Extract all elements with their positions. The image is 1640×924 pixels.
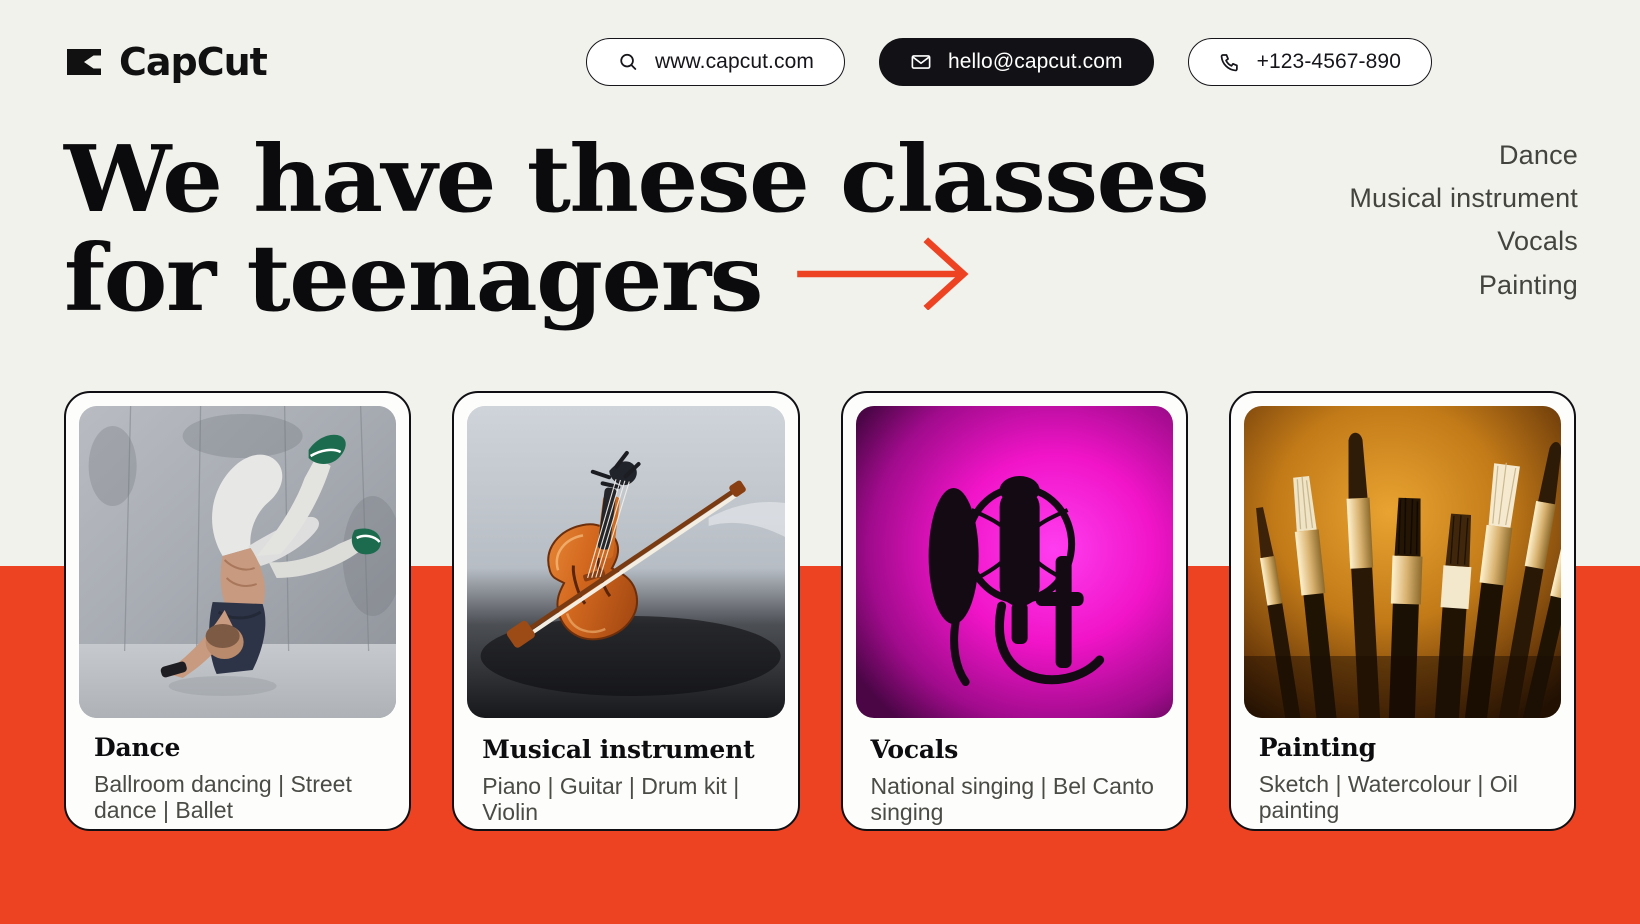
class-card-grid: Dance Ballroom dancing | Street dance | … [64, 391, 1576, 831]
brand-logo[interactable]: CapCut [62, 40, 267, 84]
poster-canvas: CapCut www.capcut.com hello@cap [0, 0, 1640, 924]
headline-line-1: We have these classes [64, 130, 1229, 229]
card-description: Piano | Guitar | Drum kit | Violin [482, 773, 784, 827]
class-card-dance[interactable]: Dance Ballroom dancing | Street dance | … [64, 391, 411, 831]
category-item-dance[interactable]: Dance [1349, 140, 1578, 170]
card-title: Dance [94, 734, 396, 762]
hero-section: We have these classes for teenagers [64, 130, 1184, 329]
headline-line-2: for teenagers [64, 229, 762, 328]
search-icon [617, 51, 639, 73]
violin-and-bow-on-dark-table-photo [467, 406, 784, 718]
card-description: Sketch | Watercolour | Oil painting [1259, 771, 1561, 825]
brand-name: CapCut [119, 43, 267, 81]
breakdancer-handstand-concrete-wall-photo [79, 406, 396, 718]
phone-pill[interactable]: +123-4567-890 [1188, 38, 1432, 86]
card-description: Ballroom dancing | Street dance | Ballet [94, 771, 396, 825]
category-list: Dance Musical instrument Vocals Painting [1349, 140, 1578, 300]
class-card-musical-instrument[interactable]: Musical instrument Piano | Guitar | Drum… [452, 391, 799, 831]
class-card-vocals[interactable]: Vocals National singing | Bel Canto sing… [841, 391, 1188, 831]
studio-microphone-magenta-backdrop-photo [856, 406, 1173, 718]
class-card-painting[interactable]: Painting Sketch | Watercolour | Oil pain… [1229, 391, 1576, 831]
category-item-painting[interactable]: Painting [1349, 270, 1578, 300]
arrow-right-icon[interactable] [797, 229, 972, 328]
mail-icon [910, 51, 932, 73]
phone-icon [1219, 51, 1241, 73]
capcut-logo-icon [62, 40, 106, 84]
card-description: National singing | Bel Canto singing [871, 773, 1173, 827]
card-title: Musical instrument [482, 736, 784, 764]
contact-pill-group: www.capcut.com hello@capcut.com +12 [586, 38, 1432, 86]
card-title: Painting [1259, 734, 1561, 762]
card-title: Vocals [871, 736, 1173, 764]
website-pill-label: www.capcut.com [655, 50, 814, 74]
email-pill-label: hello@capcut.com [948, 50, 1123, 74]
email-pill[interactable]: hello@capcut.com [879, 38, 1154, 86]
category-item-musical-instrument[interactable]: Musical instrument [1349, 183, 1578, 213]
phone-pill-label: +123-4567-890 [1257, 50, 1401, 74]
website-pill[interactable]: www.capcut.com [586, 38, 845, 86]
category-item-vocals[interactable]: Vocals [1349, 226, 1578, 256]
page-title: We have these classes for teenagers [64, 130, 1229, 329]
assorted-paint-brushes-amber-background-photo [1244, 406, 1561, 718]
page-header: CapCut www.capcut.com hello@cap [0, 0, 1640, 125]
